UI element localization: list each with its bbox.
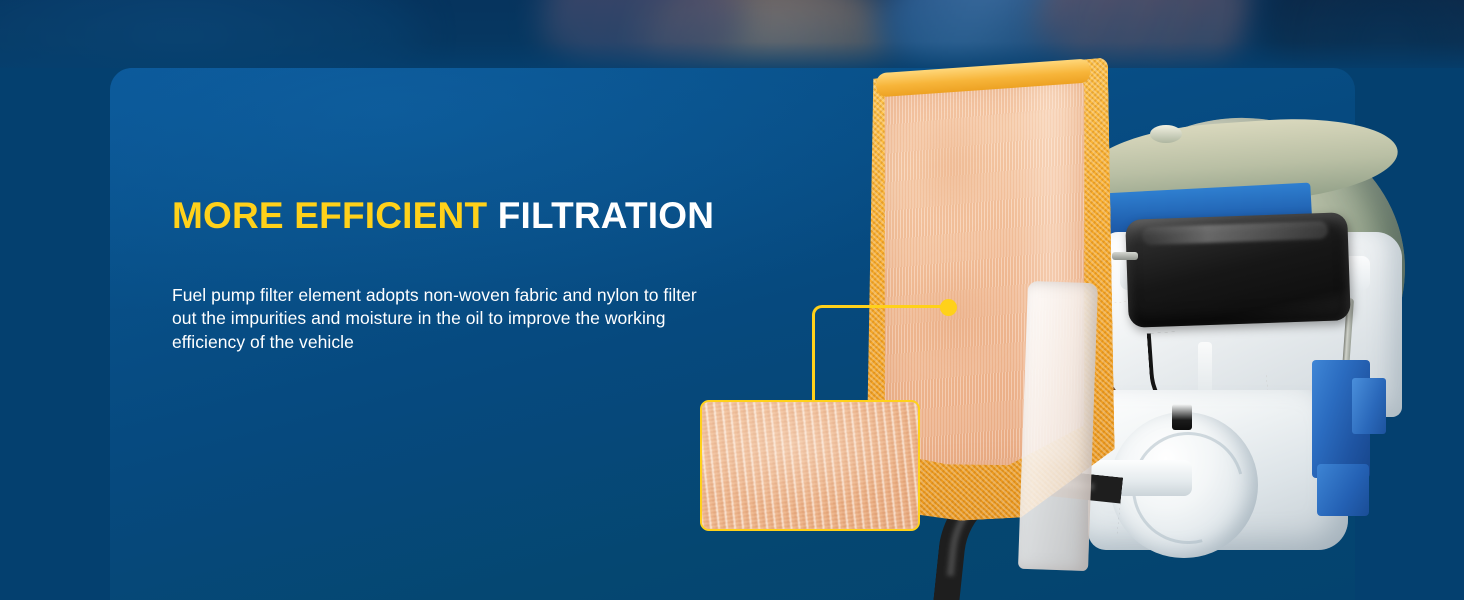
motor-terminal [1112, 252, 1138, 260]
page-title: MORE EFFICIENT FILTRATION [172, 196, 714, 237]
blue-connector-lower [1317, 464, 1369, 516]
headline-accent: MORE EFFICIENT [172, 195, 487, 236]
headline-plain: FILTRATION [487, 195, 714, 236]
blue-connector-tab [1352, 378, 1386, 434]
product-feature-banner: MORE EFFICIENT FILTRATION Fuel pump filt… [0, 0, 1464, 600]
flange-mounting-hole [1150, 125, 1182, 143]
callout-line-horizontal [828, 305, 944, 308]
body-description: Fuel pump filter element adopts non-wove… [172, 284, 702, 354]
magnified-fabric-callout [700, 400, 920, 531]
translucent-plastic-column [1018, 281, 1098, 571]
reservoir-clip [1172, 404, 1192, 430]
callout-line-vertical [812, 322, 815, 402]
callout-line-elbow [812, 305, 835, 328]
fabric-gloss-overlay [702, 402, 918, 529]
